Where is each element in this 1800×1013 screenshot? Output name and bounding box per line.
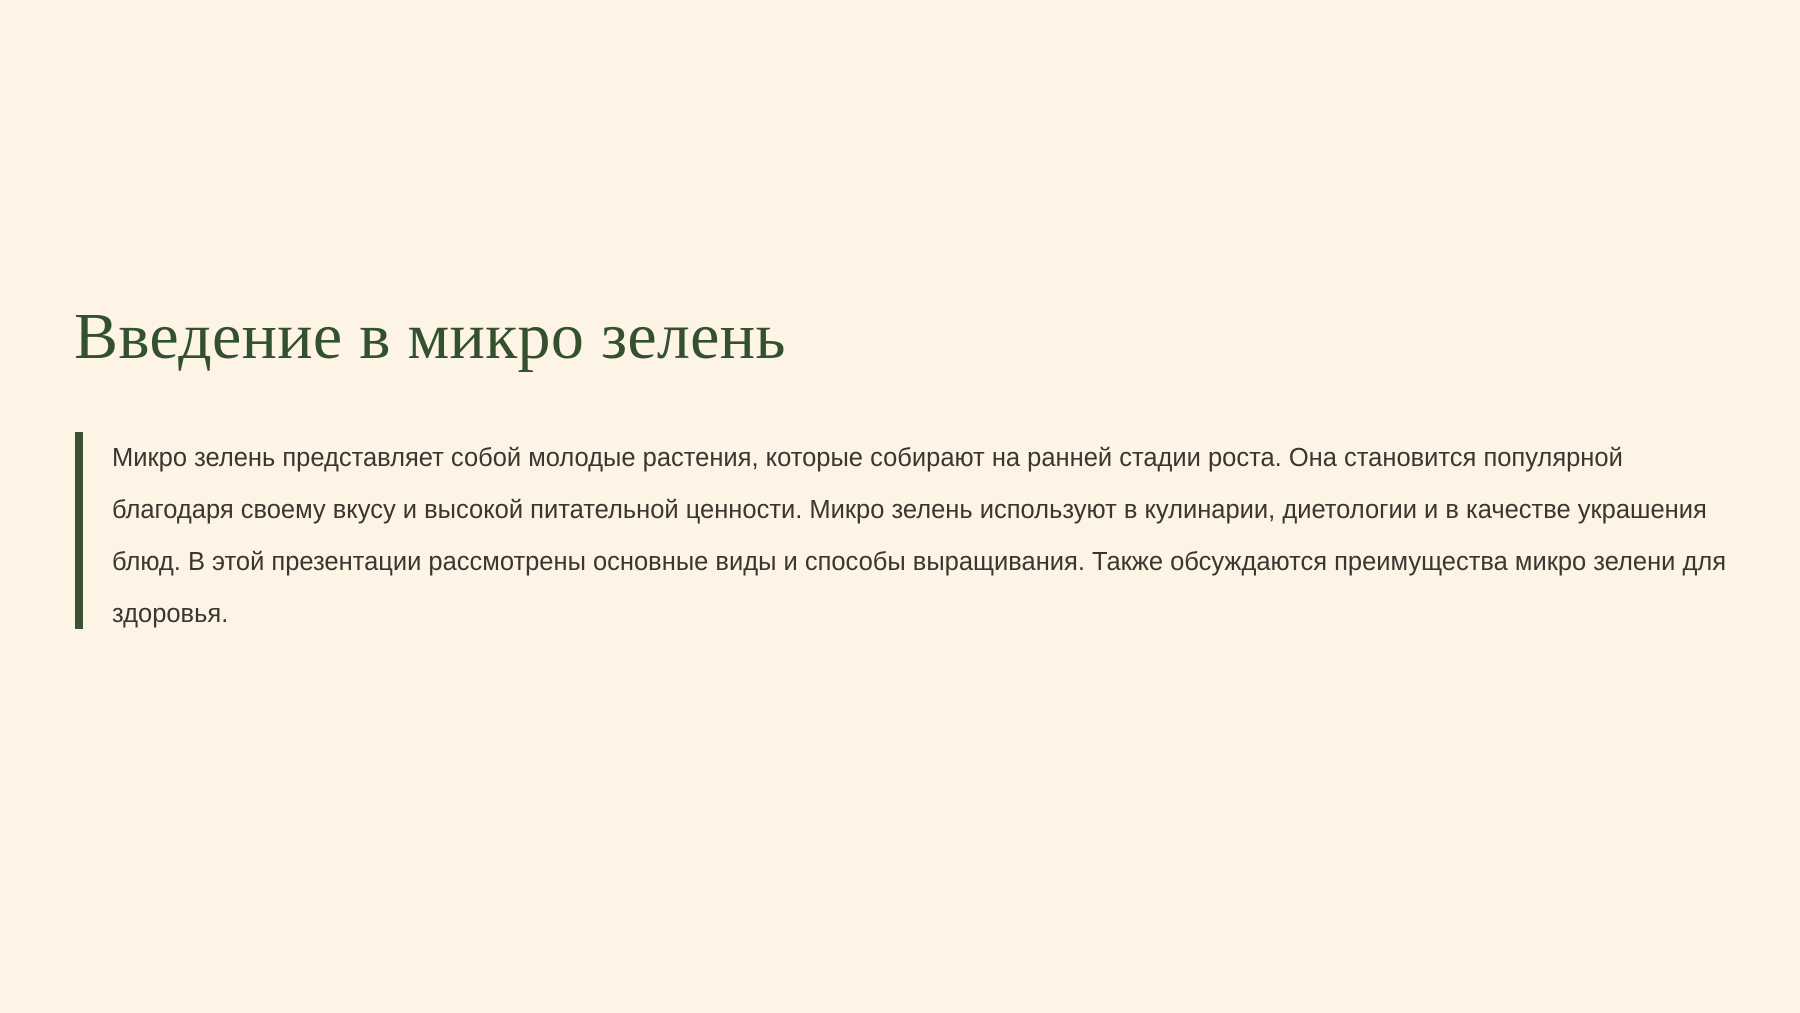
accent-bar [75, 432, 83, 629]
presentation-slide: Введение в микро зелень Микро зелень пре… [0, 0, 1800, 1013]
slide-title: Введение в микро зелень [74, 300, 1734, 374]
body-block: Микро зелень представляет собой молодые … [74, 432, 1734, 640]
slide-content: Введение в микро зелень Микро зелень пре… [74, 300, 1734, 640]
slide-body-text: Микро зелень представляет собой молодые … [112, 432, 1734, 640]
